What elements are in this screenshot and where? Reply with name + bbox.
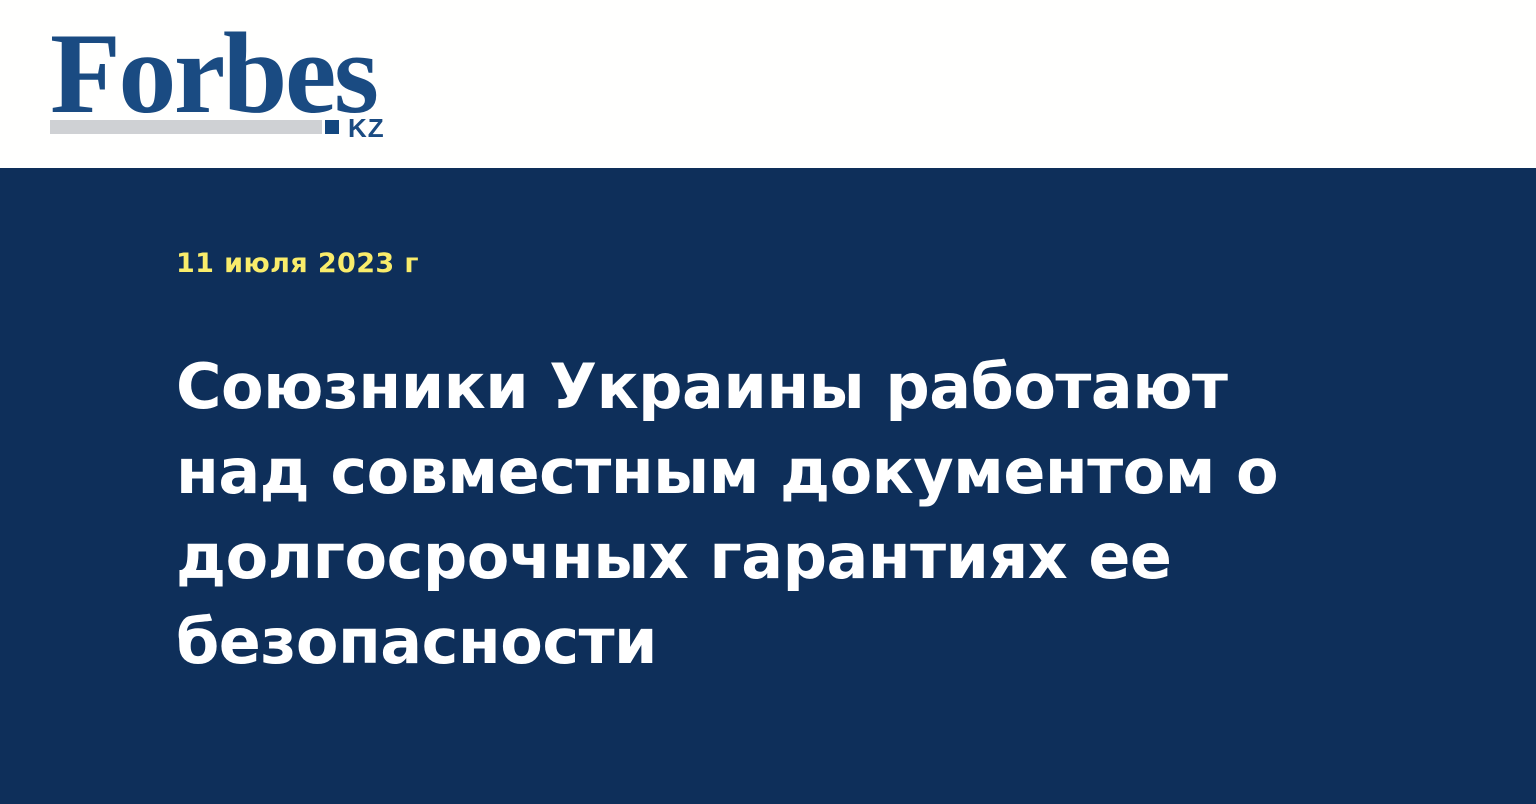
- logo-gray-rule: [50, 120, 322, 134]
- blue-square-icon: [325, 120, 339, 134]
- article-hero-page: Forbes KZ 11 июля 2023 г Союзники Украин…: [0, 0, 1536, 804]
- article-date: 11 июля 2023 г: [176, 168, 1376, 277]
- forbes-kz-logo[interactable]: Forbes KZ: [50, 16, 410, 146]
- article-hero-content: 11 июля 2023 г Союзники Украины работают…: [176, 168, 1376, 684]
- logo-kz-suffix: KZ: [348, 115, 385, 141]
- article-headline: Союзники Украины работают над совместным…: [176, 277, 1361, 684]
- article-hero: 11 июля 2023 г Союзники Украины работают…: [0, 168, 1536, 804]
- forbes-wordmark: Forbes: [50, 16, 377, 132]
- site-header: Forbes KZ: [0, 0, 1536, 168]
